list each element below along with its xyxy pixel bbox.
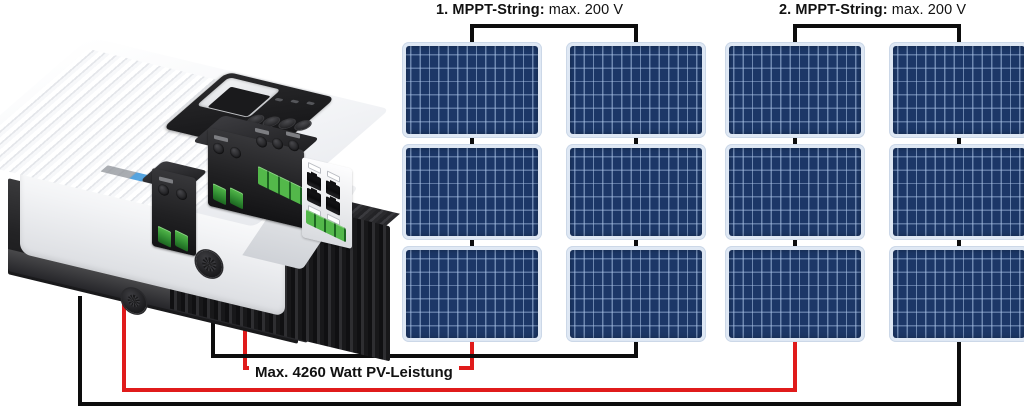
pv-panel-r1-c1 <box>402 42 542 138</box>
pv2-jack-positive <box>213 142 224 156</box>
status-led-pv <box>274 98 284 102</box>
pv-cells <box>570 148 702 236</box>
pv1-terminal-positive <box>158 226 171 248</box>
comm-port-module <box>302 157 352 249</box>
pv-panel-r3-c2 <box>566 246 706 342</box>
pv-cells <box>893 250 1024 338</box>
aux-terminal-block <box>306 209 346 242</box>
pv1-connector-block <box>152 168 196 257</box>
battery-terminal-block <box>258 166 304 206</box>
pv-panel-r3-c4 <box>889 246 1024 342</box>
pv-panel-r2-c4 <box>889 144 1024 240</box>
pv-cells <box>570 46 702 134</box>
pv-cells <box>570 250 702 338</box>
pv-cells <box>893 148 1024 236</box>
pv-panel-r2-c3 <box>725 144 865 240</box>
pv1-label <box>159 176 173 183</box>
pv-cells <box>893 46 1024 134</box>
pv-cells <box>729 46 861 134</box>
pv-panel-r2-c1 <box>402 144 542 240</box>
wire-pos-string2-drop <box>793 342 797 392</box>
pv1-terminal-negative <box>175 230 188 252</box>
pv-panel-r1-c4 <box>889 42 1024 138</box>
string-2-label: 2. MPPT-String: max. 200 V <box>779 2 966 18</box>
string-1-label: 1. MPPT-String: max. 200 V <box>436 2 623 18</box>
pv1-jack-negative <box>176 187 187 201</box>
status-led-batt <box>290 99 300 103</box>
pv2-jack-negative <box>230 146 241 160</box>
pv2-terminal-negative <box>230 187 243 209</box>
pv-panel-r3-c3 <box>725 246 865 342</box>
pv-panel-r1-c3 <box>725 42 865 138</box>
wire-neg-string2-run <box>78 402 961 406</box>
status-led-load <box>306 101 316 105</box>
lcd-screen-glass <box>207 87 270 117</box>
pv-cells <box>406 46 538 134</box>
string-1-top-leg-left <box>470 24 474 42</box>
pv-cells <box>729 148 861 236</box>
diagram-canvas: 1. MPPT-String: max. 200 V 2. MPPT-Strin… <box>0 0 1024 409</box>
string-2-top-leg-right <box>957 24 961 42</box>
wire-neg-string2-drop <box>957 342 961 406</box>
string-2-top-bus <box>793 24 961 28</box>
pv1-jack-positive <box>158 183 169 197</box>
pv2-terminal-positive <box>213 183 226 205</box>
string-2-top-leg-left <box>793 24 797 42</box>
string-1-top-bus <box>470 24 638 28</box>
pv-cells <box>729 250 861 338</box>
pv-panel-r2-c2 <box>566 144 706 240</box>
pv-cells <box>406 250 538 338</box>
pv-panel-r1-c2 <box>566 42 706 138</box>
pv2-label <box>214 135 228 142</box>
string-1-top-leg-right <box>634 24 638 42</box>
mppt-charge-controller <box>0 55 395 400</box>
pv-panel-r3-c1 <box>402 246 542 342</box>
pv-cells <box>406 148 538 236</box>
